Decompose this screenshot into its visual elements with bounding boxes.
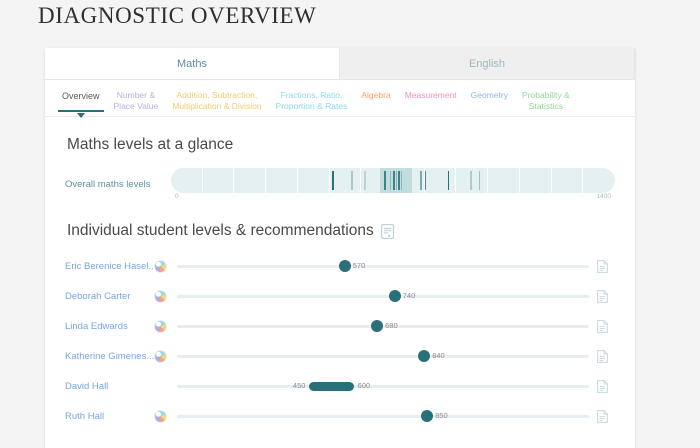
- active-tab-caret-icon: [77, 113, 85, 118]
- student-name-link[interactable]: Linda Edwards: [65, 321, 155, 332]
- individual-heading-label: Individual student levels & recommendati…: [67, 222, 374, 240]
- strand-tab-label: Algebra: [361, 90, 390, 100]
- distribution-tick[interactable]: [420, 171, 422, 190]
- distribution-cell: [520, 168, 552, 193]
- individual-heading: Individual student levels & recommendati…: [67, 222, 615, 240]
- slider-value-label: 680: [385, 320, 398, 332]
- strand-tab-algebra[interactable]: Algebra: [354, 87, 397, 101]
- student-report-icon[interactable]: [589, 410, 615, 423]
- student-row: Katherine Gimenes...840: [65, 341, 615, 371]
- student-level-slider[interactable]: 450600: [177, 375, 589, 397]
- student-report-icon-svg: [597, 290, 608, 303]
- subject-tab-label: English: [469, 58, 505, 70]
- diagnostic-card: MathsEnglish OverviewNumber & Place Valu…: [45, 48, 635, 448]
- axis-min-label: 0: [175, 193, 179, 200]
- distribution-bar[interactable]: [171, 168, 615, 193]
- slider-value-label: 570: [353, 260, 366, 272]
- document-export-icon[interactable]: [381, 224, 394, 239]
- student-report-icon[interactable]: [589, 320, 615, 333]
- distribution-tick[interactable]: [396, 171, 398, 190]
- slider-track: [177, 385, 589, 388]
- student-list: Eric Berenice Hasel...570Deborah Carter7…: [65, 251, 615, 431]
- strand-tab-label: Geometry: [471, 90, 508, 100]
- student-level-slider[interactable]: 570: [177, 255, 589, 277]
- student-name-link[interactable]: David Hall: [65, 381, 155, 392]
- subject-tab-english[interactable]: English: [340, 48, 635, 79]
- subject-tab-maths[interactable]: Maths: [45, 48, 340, 79]
- student-report-icon-svg: [597, 410, 608, 423]
- slider-knob[interactable]: [389, 290, 401, 302]
- student-row: Eric Berenice Hasel...570: [65, 251, 615, 281]
- student-report-icon-svg: [597, 260, 608, 273]
- avatar-icon: [155, 411, 166, 422]
- glance-heading-label: Maths levels at a glance: [67, 136, 233, 154]
- subject-tab-label: Maths: [177, 58, 207, 70]
- distribution-cell: [266, 168, 298, 193]
- student-report-icon[interactable]: [589, 260, 615, 273]
- distribution-tick[interactable]: [364, 171, 366, 190]
- distribution-cell: [171, 168, 203, 193]
- slider-value-label: 840: [432, 350, 445, 362]
- student-name-link[interactable]: Katherine Gimenes...: [65, 351, 155, 362]
- student-level-slider[interactable]: 740: [177, 285, 589, 307]
- avatar-icon: [155, 321, 166, 332]
- student-report-icon-svg: [597, 320, 608, 333]
- distribution-tick[interactable]: [398, 171, 400, 190]
- student-row: Linda Edwards680: [65, 311, 615, 341]
- student-avatar[interactable]: [155, 291, 177, 302]
- slider-track: [177, 415, 589, 418]
- distribution-cell: [330, 168, 362, 193]
- strand-tab-label: Measurement: [405, 90, 457, 100]
- student-avatar[interactable]: [155, 411, 177, 422]
- avatar-icon: [155, 291, 166, 302]
- student-level-slider[interactable]: 840: [177, 345, 589, 367]
- distribution-tick[interactable]: [332, 171, 334, 190]
- strand-tab-number-place-value[interactable]: Number & Place Value: [107, 87, 166, 111]
- slider-track: [177, 295, 589, 298]
- student-name-link[interactable]: Ruth Hall: [65, 411, 155, 422]
- distribution-cell: [488, 168, 520, 193]
- strand-tab-measurement[interactable]: Measurement: [398, 87, 464, 101]
- student-report-icon-svg: [597, 380, 608, 393]
- slider-range-bar[interactable]: [309, 382, 353, 391]
- student-report-icon-svg: [597, 350, 608, 363]
- student-name-link[interactable]: Eric Berenice Hasel...: [65, 261, 155, 272]
- slider-value-label: 740: [403, 290, 416, 302]
- distribution-cell: [583, 168, 615, 193]
- strand-tab-bar: OverviewNumber & Place ValueAddition, Su…: [45, 80, 635, 117]
- distribution-cell: [234, 168, 266, 193]
- student-row: Deborah Carter740: [65, 281, 615, 311]
- distribution-cell: [203, 168, 235, 193]
- strand-tab-geometry[interactable]: Geometry: [464, 87, 515, 101]
- student-name-link[interactable]: Deborah Carter: [65, 291, 155, 302]
- glance-heading: Maths levels at a glance: [67, 136, 615, 154]
- slider-knob[interactable]: [339, 260, 351, 272]
- distribution-tick[interactable]: [393, 171, 395, 190]
- student-row: Ruth Hall850: [65, 401, 615, 431]
- distribution-tick[interactable]: [425, 171, 427, 190]
- distribution-tick[interactable]: [470, 171, 472, 190]
- student-avatar[interactable]: [155, 261, 177, 272]
- distribution-axis: 0 1400: [171, 193, 615, 203]
- distribution-cell: [298, 168, 330, 193]
- overall-levels-label: Overall maths levels: [65, 179, 171, 190]
- avatar-icon: [155, 351, 166, 362]
- student-level-slider[interactable]: 680: [177, 315, 589, 337]
- axis-max-label: 1400: [597, 193, 611, 200]
- distribution-chart[interactable]: 0 1400: [171, 168, 615, 200]
- student-level-slider[interactable]: 850: [177, 405, 589, 427]
- slider-range-high-label: 600: [358, 380, 371, 392]
- distribution-tick[interactable]: [384, 171, 386, 190]
- strand-tab-probability-statistics[interactable]: Probability & Statistics: [515, 87, 577, 111]
- page-title: DIAGNOSTIC OVERVIEW: [38, 3, 317, 29]
- slider-track: [177, 355, 589, 358]
- student-row: David Hall450600: [65, 371, 615, 401]
- strand-tab-addition-subtraction-multiplication-division[interactable]: Addition, Subtraction, Multiplication & …: [165, 87, 268, 111]
- strand-tab-label: Overview: [62, 91, 100, 101]
- distribution-tick[interactable]: [351, 171, 353, 190]
- strand-tab-label: Probability & Statistics: [522, 90, 570, 111]
- distribution-cell: [425, 168, 457, 193]
- avatar-icon: [155, 261, 166, 272]
- distribution-cell: [456, 168, 488, 193]
- overall-levels-row: Overall maths levels 0 1400: [65, 168, 615, 200]
- subject-tab-bar: MathsEnglish: [45, 48, 635, 80]
- student-report-icon[interactable]: [589, 350, 615, 363]
- slider-knob[interactable]: [421, 410, 433, 422]
- card-body: Maths levels at a glance Overall maths l…: [45, 136, 635, 431]
- strand-tab-label: Addition, Subtraction, Multiplication & …: [172, 90, 261, 111]
- strand-tab-fractions-ratio-proportion-rates[interactable]: Fractions, Ratio, Proportion & Rates: [269, 87, 355, 111]
- student-avatar[interactable]: [155, 321, 177, 332]
- active-tab-underline: [58, 110, 104, 112]
- distribution-tick[interactable]: [448, 171, 450, 190]
- slider-value-label: 850: [435, 410, 448, 422]
- distribution-tick[interactable]: [390, 171, 392, 190]
- distribution-cell: [552, 168, 584, 193]
- student-report-icon[interactable]: [589, 290, 615, 303]
- strand-tab-label: Fractions, Ratio, Proportion & Rates: [276, 90, 348, 111]
- slider-range-low-label: 450: [293, 380, 306, 392]
- student-avatar[interactable]: [155, 351, 177, 362]
- student-report-icon[interactable]: [589, 380, 615, 393]
- strand-tab-overview[interactable]: Overview: [55, 87, 107, 102]
- strand-tab-label: Number & Place Value: [114, 90, 159, 111]
- document-export-icon-svg: [381, 224, 394, 239]
- distribution-tick[interactable]: [479, 171, 481, 190]
- slider-knob[interactable]: [371, 320, 383, 332]
- distribution-tick[interactable]: [401, 171, 403, 190]
- slider-knob[interactable]: [418, 350, 430, 362]
- slider-track: [177, 265, 589, 268]
